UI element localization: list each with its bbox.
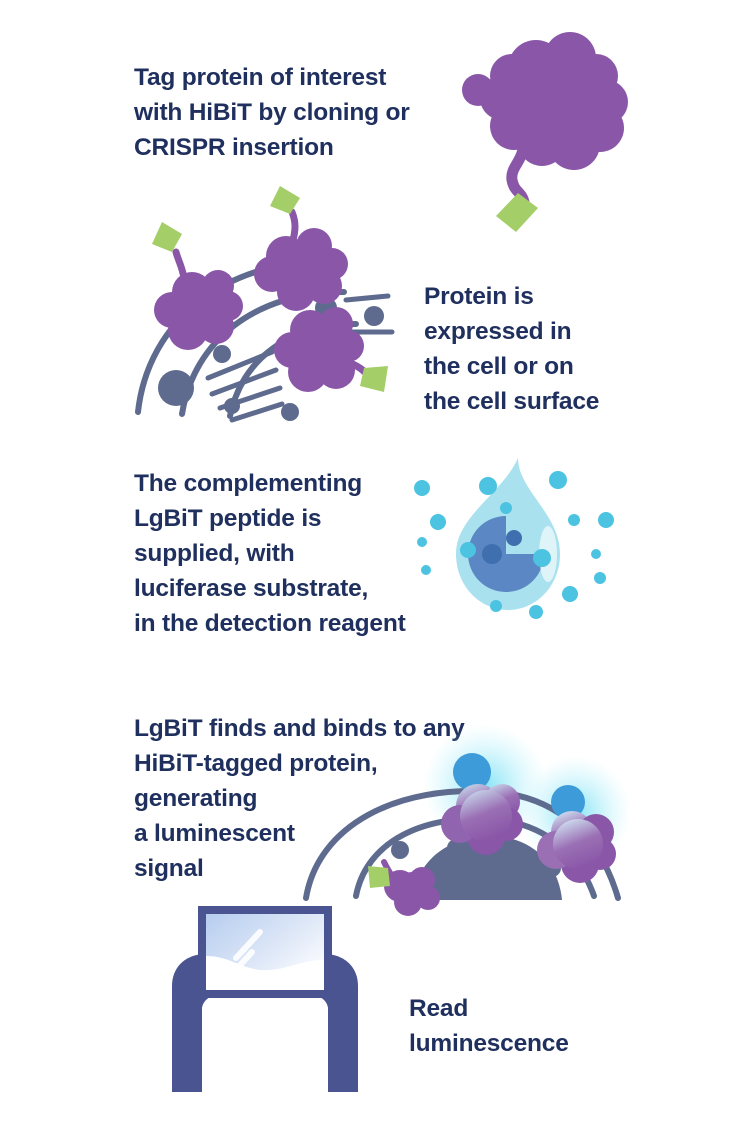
tagged-protein-illustration bbox=[440, 20, 640, 235]
tagged-protein-svg bbox=[440, 20, 640, 235]
step-1-caption: Tag protein of interest with HiBiT by cl… bbox=[134, 60, 410, 165]
hibit-tag-green-wedge bbox=[368, 866, 390, 888]
luminescent-binding-svg bbox=[300, 750, 630, 910]
luminescent-binding-illustration bbox=[300, 750, 630, 910]
infographic-page: Tag protein of interest with HiBiT by cl… bbox=[0, 0, 750, 1130]
hibit-tag-green-wedge bbox=[496, 193, 538, 232]
luminometer-svg bbox=[140, 900, 380, 1100]
cell-expression-svg bbox=[120, 200, 420, 425]
luminometer-illustration bbox=[140, 900, 380, 1100]
step-2-caption: Protein is expressed in the cell or on t… bbox=[424, 279, 599, 419]
droplet-svg bbox=[410, 450, 625, 625]
instrument-plate-drawer bbox=[198, 992, 332, 1092]
tagged-protein-top bbox=[254, 186, 348, 311]
step-5-caption: Read luminescence bbox=[409, 991, 569, 1061]
detection-reagent-droplet-illustration bbox=[410, 450, 625, 625]
protein-blob bbox=[462, 32, 628, 170]
tagged-protein-left bbox=[152, 222, 243, 350]
instrument-screen bbox=[198, 906, 332, 998]
step-3-caption: The complementing LgBiT peptide is suppl… bbox=[134, 466, 406, 641]
cell-expression-illustration bbox=[120, 200, 420, 425]
